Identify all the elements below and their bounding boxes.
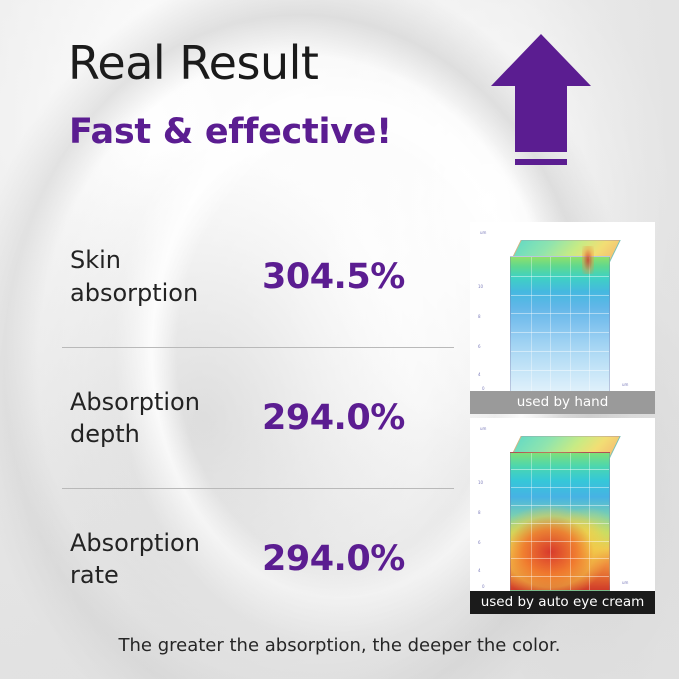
metric-value-absorption-depth: 294.0%	[250, 398, 454, 438]
axis-tick-label: um	[480, 426, 486, 431]
footer-note: The greater the absorption, the deeper t…	[0, 635, 679, 656]
volume-grid	[511, 257, 609, 391]
axis-tick-label: um	[622, 382, 628, 387]
metric-label-absorption-rate: Absorption rate	[62, 527, 250, 592]
axis-tick-label: 6	[478, 540, 481, 545]
page-title: Real Result	[68, 36, 318, 90]
heatmap-plot-hand: um 10 8 6 4 0 um	[470, 222, 655, 414]
axis-tick-label: 4	[478, 568, 481, 573]
axis-tick-label: 8	[478, 314, 481, 319]
axis-tick-label: 10	[478, 284, 483, 289]
absorption-volume-auto-eye-cream	[510, 436, 610, 591]
axis-tick-label: um	[622, 580, 628, 585]
panel-caption-hand: used by hand	[470, 391, 655, 414]
heatmap-panel-auto-eye-cream: um 10 8 6 4 0 um	[470, 418, 655, 614]
heatmap-plot-auto-eye-cream: um 10 8 6 4 0 um	[470, 418, 655, 614]
metric-value-absorption-rate: 294.0%	[250, 539, 454, 579]
volume-front-face	[510, 256, 610, 392]
table-row: Skin absorption 304.5%	[62, 206, 454, 347]
axis-tick-label: 8	[478, 510, 481, 515]
axis-tick-label: um	[480, 230, 486, 235]
axis-tick-label: 4	[478, 372, 481, 377]
panel-caption-auto-eye-cream: used by auto eye cream	[470, 591, 655, 614]
absorption-volume-hand	[510, 240, 610, 392]
metric-label-absorption-depth: Absorption depth	[62, 386, 250, 451]
heatmap-panel-hand: um 10 8 6 4 0 um	[470, 222, 655, 414]
hotspot-marker	[582, 246, 594, 274]
axis-tick-label: 10	[478, 480, 483, 485]
volume-front-face	[510, 452, 610, 591]
metric-label-skin-absorption: Skin absorption	[62, 244, 250, 309]
up-arrow-icon	[487, 30, 595, 170]
volume-grid	[511, 453, 609, 590]
table-row: Absorption depth 294.0%	[62, 347, 454, 488]
axis-tick-label: 0	[482, 584, 485, 589]
table-row: Absorption rate 294.0%	[62, 488, 454, 629]
page-subtitle: Fast & effective!	[69, 112, 392, 152]
axis-tick-label: 6	[478, 344, 481, 349]
metric-value-skin-absorption: 304.5%	[250, 257, 454, 297]
metrics-table: Skin absorption 304.5% Absorption depth …	[62, 206, 454, 629]
